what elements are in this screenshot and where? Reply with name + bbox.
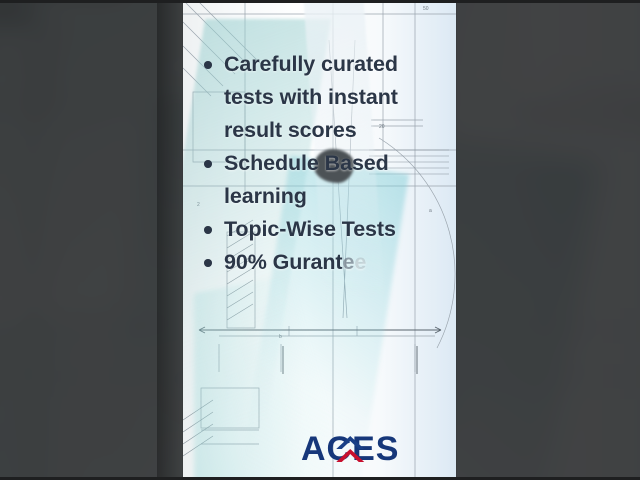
bullet-guarantee-tail-1: e bbox=[342, 250, 354, 274]
video-stage: Carefully curated tests with instant res… bbox=[0, 0, 640, 480]
bullet-item-curated-tests: Carefully curated tests with instant res… bbox=[199, 48, 448, 147]
bullet-item-schedule-based: Schedule Based learning bbox=[199, 147, 448, 213]
bullet-guarantee-head: 90% Gurant bbox=[224, 250, 342, 274]
center-video-panel: 5020 220 ab Carefully curated tests with… bbox=[183, 0, 456, 480]
svg-text:b: b bbox=[279, 334, 282, 340]
feature-bullet-list: Carefully curated tests with instant res… bbox=[199, 48, 448, 279]
bullet-item-guarantee: 90% Gurantee bbox=[199, 246, 448, 279]
top-letterbox-bar bbox=[0, 0, 640, 3]
aces-logo[interactable]: ACES bbox=[301, 432, 399, 466]
double-chevron-up-icon bbox=[301, 432, 399, 466]
bullet-item-topic-wise: Topic-Wise Tests bbox=[199, 213, 448, 246]
foreground-scene: 5020 220 ab Carefully curated tests with… bbox=[183, 0, 456, 480]
svg-text:50: 50 bbox=[423, 6, 429, 12]
bullet-guarantee-tail-2: e bbox=[354, 250, 366, 274]
